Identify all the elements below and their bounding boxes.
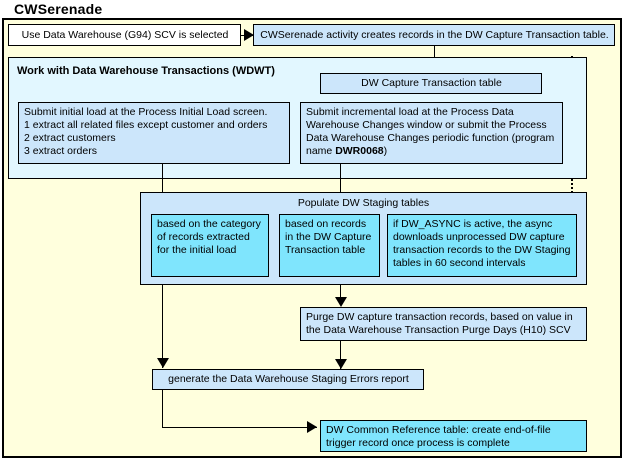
node-incremental-load: Submit incremental load at the Process D… <box>300 102 563 164</box>
node-purge-capture-records-label: Purge DW capture transaction records, ba… <box>306 311 573 336</box>
node-populate-by-capture-records: based on records in the DW Capture Trans… <box>279 214 380 277</box>
node-cwserenade-activity-label: CWSerenade activity creates records in t… <box>260 29 608 42</box>
node-initial-load-line-1: Submit initial load at the Process Initi… <box>24 106 285 119</box>
node-dw-capture-transaction-table-label: DW Capture Transaction table <box>361 77 502 90</box>
node-cwserenade-activity: CWSerenade activity creates records in t… <box>253 24 615 46</box>
connector-report-elbow-horizontal <box>162 427 317 428</box>
node-scv-selected: Use Data Warehouse (G94) SCV is selected <box>8 24 241 46</box>
group-populate-staging-title: Populate DW Staging tables <box>141 197 586 210</box>
node-dw-common-reference: DW Common Reference table: create end-of… <box>320 420 587 452</box>
node-populate-by-capture-records-label: based on records in the DW Capture Trans… <box>285 218 371 256</box>
node-incremental-load-text-close: ) <box>384 145 388 157</box>
node-dw-common-reference-label: DW Common Reference table: create end-of… <box>326 424 551 449</box>
connector-report-elbow-vertical <box>162 390 163 427</box>
node-initial-load-line-4: 3 extract orders <box>24 145 285 158</box>
connector-populate-to-report-arrow <box>157 358 169 368</box>
node-populate-by-category-label: based on the category of records extract… <box>157 218 261 256</box>
connector-report-to-common-arrow <box>307 421 317 433</box>
node-initial-load-line-3: 2 extract customers <box>24 132 285 145</box>
node-purge-capture-records: Purge DW capture transaction records, ba… <box>300 307 587 341</box>
page-title: CWSerenade <box>14 0 102 18</box>
node-initial-load: Submit initial load at the Process Initi… <box>18 102 290 164</box>
node-scv-selected-label: Use Data Warehouse (G94) SCV is selected <box>22 29 229 42</box>
node-populate-by-category: based on the category of records extract… <box>151 214 269 277</box>
node-staging-errors-report-label: generate the Data Warehouse Staging Erro… <box>168 373 409 386</box>
group-wdwt-title: Work with Data Warehouse Transactions (W… <box>17 65 275 78</box>
connector-populate-to-purge-arrow <box>335 297 347 307</box>
node-dw-capture-transaction-table: DW Capture Transaction table <box>320 73 542 94</box>
diagram-canvas: CWSerenade Use Data Warehouse (G94) SCV … <box>0 0 626 462</box>
node-initial-load-line-2: 1 extract all related files except custo… <box>24 119 285 132</box>
connector-populate-to-report-line <box>162 285 163 368</box>
node-incremental-load-program-name: DWR0068 <box>335 145 383 157</box>
connector-purge-down-arrow <box>335 359 347 369</box>
node-populate-async-label: if DW_ASYNC is active, the async downloa… <box>393 218 570 269</box>
node-populate-async: if DW_ASYNC is active, the async downloa… <box>387 214 577 277</box>
node-staging-errors-report: generate the Data Warehouse Staging Erro… <box>152 369 424 390</box>
